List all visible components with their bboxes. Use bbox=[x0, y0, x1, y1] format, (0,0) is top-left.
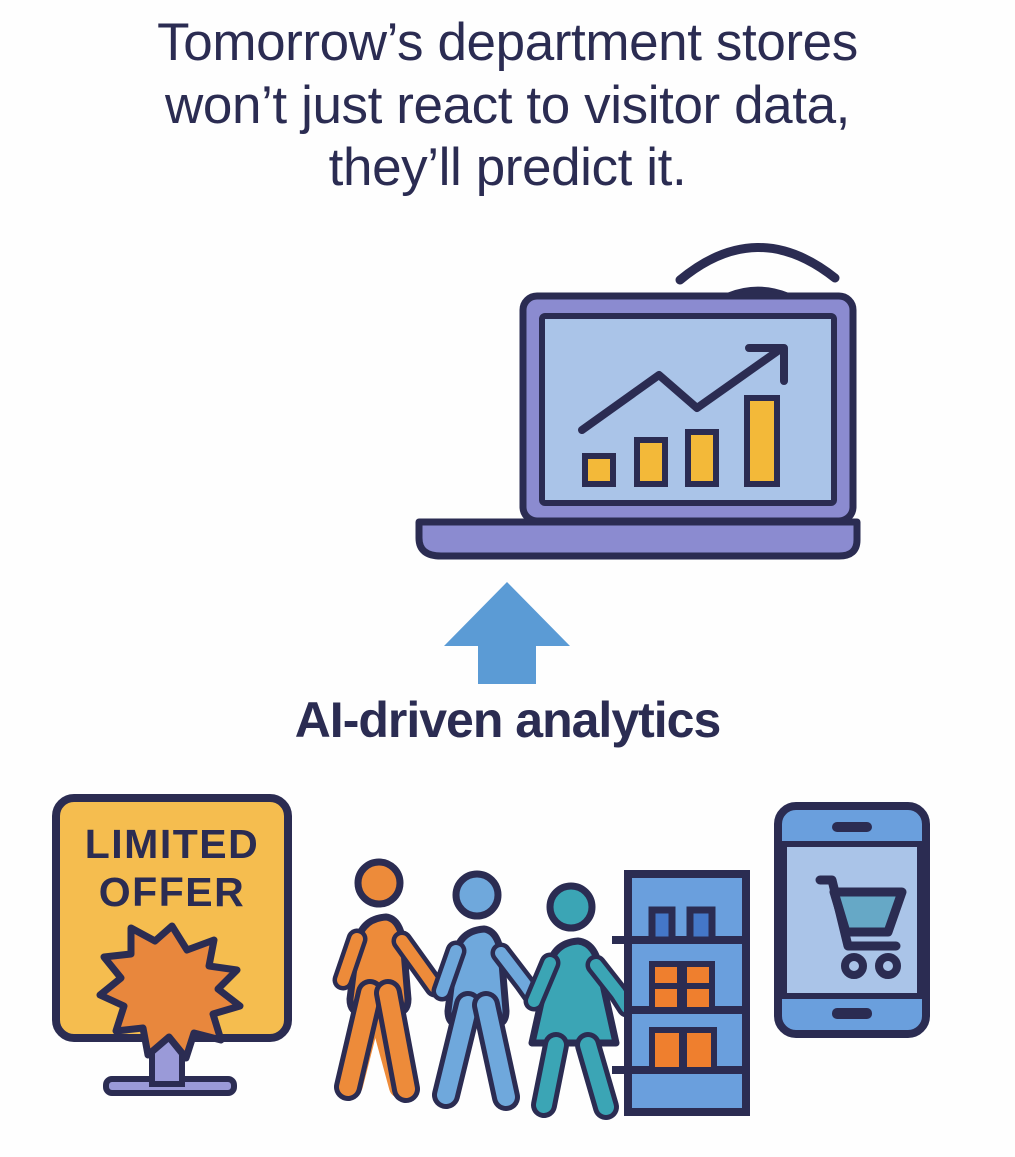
arrow-up-icon bbox=[444, 582, 570, 684]
shelf-box-3 bbox=[652, 986, 680, 1010]
page-title: Tomorrow’s department stores won’t just … bbox=[0, 12, 1015, 200]
sign-line-1: LIMITED bbox=[85, 821, 259, 867]
shelf-box-5 bbox=[652, 1030, 682, 1070]
arrow-up-illustration bbox=[440, 578, 575, 688]
walking-shoppers-illustration bbox=[330, 855, 630, 1125]
shelf-box-1 bbox=[652, 964, 680, 986]
laptop-illustration bbox=[405, 218, 875, 568]
shelf-box-6 bbox=[684, 1030, 714, 1070]
bar-4 bbox=[747, 398, 777, 484]
bar-3 bbox=[688, 432, 716, 484]
shelf-window-2 bbox=[690, 910, 712, 940]
limited-offer-sign: LIMITED OFFER bbox=[48, 790, 338, 1110]
store-shelving-illustration bbox=[618, 868, 758, 1118]
phone-speaker bbox=[832, 822, 872, 832]
shopper-blue bbox=[442, 874, 534, 1097]
shelf-window-1 bbox=[652, 910, 672, 940]
sign-line-2: OFFER bbox=[99, 869, 245, 915]
shopper-orange bbox=[343, 862, 435, 1089]
laptop-base bbox=[419, 522, 857, 556]
bar-1 bbox=[585, 456, 613, 484]
infographic-canvas: Tomorrow’s department stores won’t just … bbox=[0, 0, 1015, 1157]
shelf-box-2 bbox=[684, 964, 712, 986]
bar-2 bbox=[637, 440, 665, 484]
caption-ai-driven-analytics: AI-driven analytics bbox=[0, 691, 1015, 749]
smartphone-illustration bbox=[768, 798, 938, 1048]
shelf-box-4 bbox=[684, 986, 712, 1010]
phone-home-button[interactable] bbox=[832, 1008, 872, 1019]
